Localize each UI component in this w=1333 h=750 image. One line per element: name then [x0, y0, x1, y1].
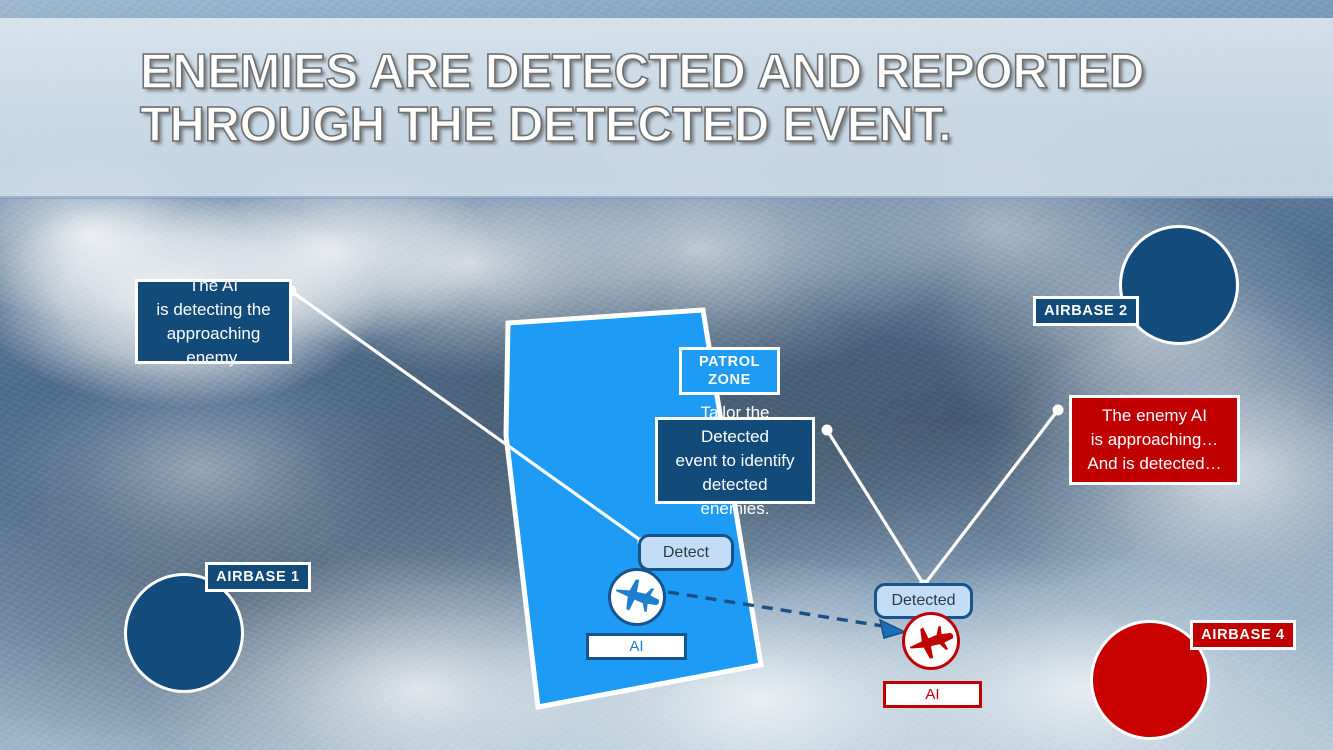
- top-accent-strip: [0, 0, 1333, 18]
- airbase-2-marker: [1119, 225, 1239, 345]
- patrol-zone-label: PATROL ZONE: [679, 347, 780, 395]
- fighter-jet-icon: [611, 571, 663, 623]
- callout-tailor-detected: Tailor the Detected event to identify de…: [655, 417, 815, 504]
- airbase-1-label-text: AIRBASE 1: [216, 569, 300, 585]
- airbase-4-label: AIRBASE 4: [1190, 620, 1296, 650]
- event-pill-detected-text: Detected: [891, 592, 955, 610]
- callout-enemy-ai: The enemy AI is approaching… And is dete…: [1069, 395, 1240, 485]
- fighter-jet-icon: [905, 615, 957, 667]
- slide-canvas: Enemies are detected and reported throug…: [0, 0, 1333, 750]
- callout-tailor-detected-text: Tailor the Detected event to identify de…: [668, 401, 802, 521]
- event-pill-detect-text: Detect: [663, 544, 709, 562]
- callout-ai-detecting-text: The AI is detecting the approaching enem…: [148, 274, 279, 370]
- friendly-ai-label: AI: [586, 633, 687, 660]
- enemy-ai-label-text: AI: [925, 686, 939, 703]
- friendly-ai-label-text: AI: [629, 638, 643, 655]
- enemy-ai-label: AI: [883, 681, 982, 708]
- airbase-1-label: AIRBASE 1: [205, 562, 311, 592]
- airbase-2-label: AIRBASE 2: [1033, 296, 1139, 326]
- airbase-2-label-text: AIRBASE 2: [1044, 303, 1128, 319]
- callout-ai-detecting: The AI is detecting the approaching enem…: [135, 279, 292, 364]
- event-pill-detect: Detect: [638, 534, 734, 571]
- airbase-4-label-text: AIRBASE 4: [1201, 627, 1285, 643]
- friendly-jet-marker: [608, 568, 666, 626]
- page-title: Enemies are detected and reported throug…: [140, 46, 1260, 152]
- enemy-jet-marker: [902, 612, 960, 670]
- patrol-zone-label-text: PATROL ZONE: [699, 353, 760, 389]
- title-band-divider: [0, 196, 1333, 199]
- callout-enemy-ai-text: The enemy AI is approaching… And is dete…: [1087, 404, 1221, 476]
